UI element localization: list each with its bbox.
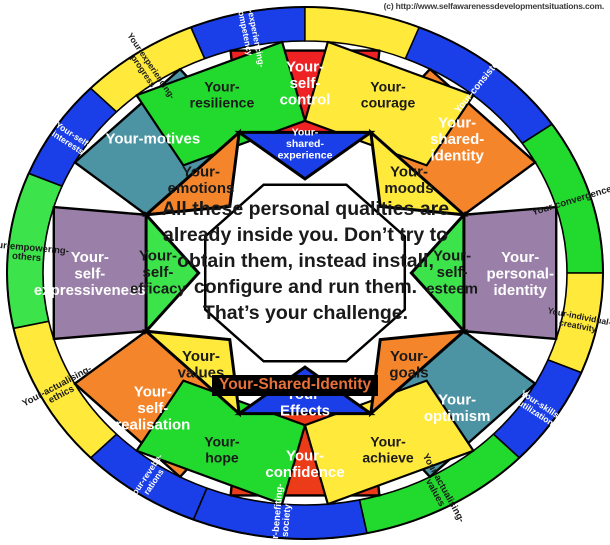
center-line-3: obtain them, instead install, xyxy=(138,249,473,275)
center-message: All these personal qualities are already… xyxy=(138,197,473,327)
inner-segment-label-moods: Your-moods xyxy=(384,164,433,198)
center-line-4: configure and run them. xyxy=(138,275,473,301)
mid-segment-label-motives: Your-motives xyxy=(105,130,200,147)
center-line-2: already inside you. Don’t try to xyxy=(138,223,473,249)
center-line-5: That’s your challenge. xyxy=(138,301,473,327)
shared-identity-banner: Your-Shared-Identity xyxy=(212,375,378,396)
center-line-1: All these personal qualities are xyxy=(138,197,473,223)
inner-segment-label-goals: Your-goals xyxy=(389,348,428,382)
wheel-diagram: Your-consistencyYour-convergenceYour-ind… xyxy=(0,0,610,545)
copyright-notice: (c) http://www.selfawarenessdevelopments… xyxy=(384,1,604,11)
corner-segment-label-hope: Your-hope xyxy=(204,433,240,465)
